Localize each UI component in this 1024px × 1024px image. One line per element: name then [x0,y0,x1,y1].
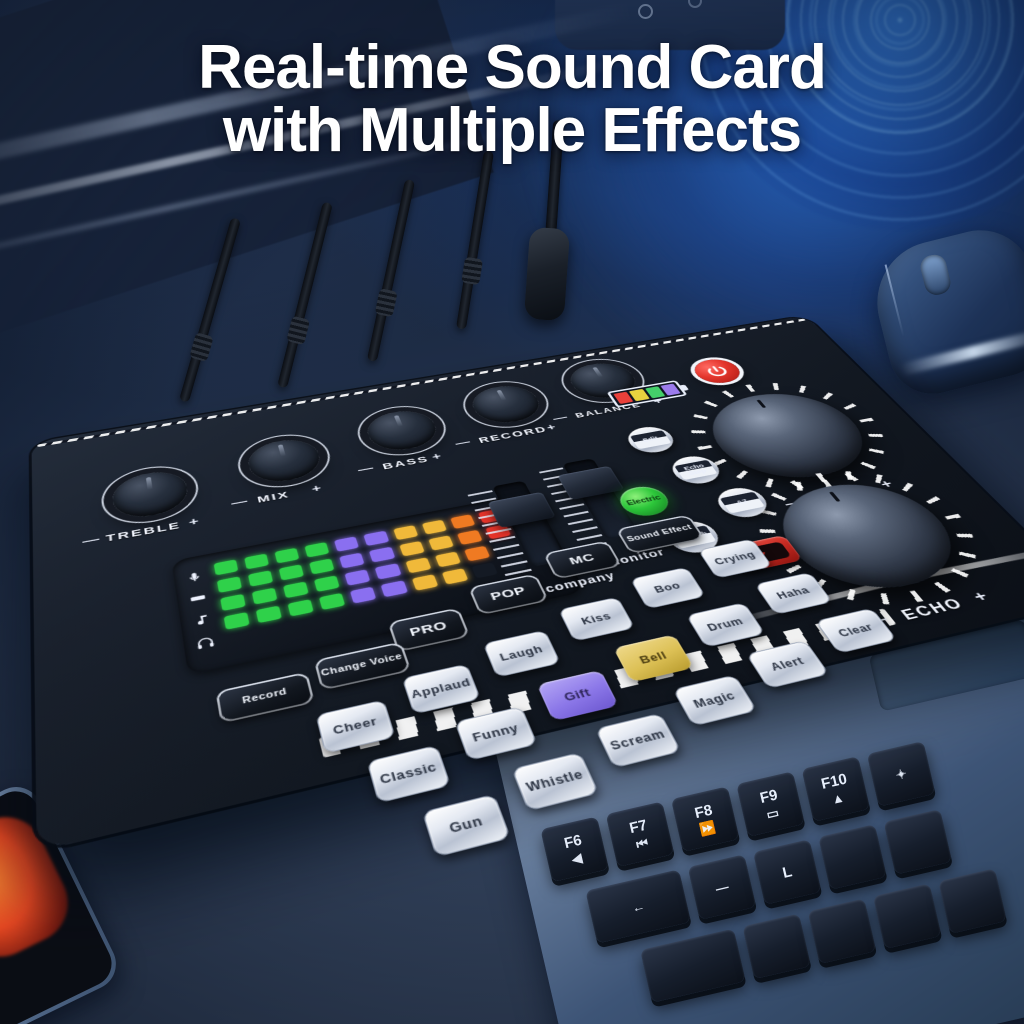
led-cell [421,520,446,535]
led-cell [340,553,366,569]
knob-echo-plus: + [969,588,993,606]
button-label: Kiss [580,611,613,626]
knob-treble[interactable] [111,467,191,522]
button-label: Drum [705,616,745,633]
knob-bass-label: BASS [381,454,431,471]
knob-bass-plus: + [430,452,443,463]
led-cell [214,559,239,575]
led-cell [405,557,431,573]
button-label: Edit [630,430,672,449]
led-cell [244,553,269,569]
led-cell [441,568,468,584]
led-cell [314,575,340,592]
key-glyph: — [714,879,730,895]
knob-mix-label: MIX [256,490,291,505]
knob-record[interactable] [465,382,547,427]
button-label: Funny [471,722,521,744]
knob-mix-minus: — [230,497,248,510]
cable-connector [524,227,570,322]
pad-button-kiss[interactable]: Kiss [558,597,635,642]
led-cell [471,562,498,578]
knob-mix[interactable] [244,435,325,486]
led-cell [256,606,282,624]
led-cell [457,530,483,545]
led-cell [220,594,246,611]
led-cell [319,593,345,610]
led-cell [288,599,314,616]
button-label: POP [489,585,528,603]
button-label: Bell [638,650,669,666]
headline-line-1: Real-time Sound Card [0,36,1024,99]
microphone-icon [184,570,204,585]
key-label: F6 [563,832,583,851]
led-cell [428,535,454,550]
button-label: Cheer [332,716,379,737]
knob-treble-label: TREBLE [105,520,181,544]
pad-button-magic[interactable]: Magic [672,675,757,727]
led-cell [411,574,438,591]
button-label: Laugh [498,644,544,663]
power-icon [701,363,733,379]
pad-button-boo[interactable]: Boo [630,567,706,609]
button-label: Whistle [524,768,585,794]
led-row-icons [184,570,216,652]
led-cell [450,514,475,529]
page-title: Real-time Sound Card with Multiple Effec… [0,36,1024,162]
led-cell [381,580,408,597]
led-cell [345,569,371,585]
knob-treble-plus: + [188,516,199,528]
knob-treble-minus: — [82,534,100,548]
monitor-button-icon [638,4,653,19]
led-cell [305,542,330,558]
pad-button-gun[interactable]: Gun [422,794,511,857]
knob-record-minus: — [454,438,473,450]
pad-button-classic[interactable]: Classic [367,745,452,804]
knob-bass[interactable] [362,407,443,455]
led-cell [309,558,334,574]
key-glyph: ⏩ [698,820,717,836]
pad-button-scream[interactable]: Scream [595,713,682,768]
button-label: Classic [378,761,438,786]
headphones-icon [195,635,217,652]
key-glyph: ← [630,899,646,915]
button-record[interactable]: Record [218,674,312,721]
led-cell [279,564,304,580]
button-label: Haha [775,585,812,600]
pad-button-cheer[interactable]: Cheer [315,700,395,754]
key-label: L [781,864,793,881]
headline-line-2: with Multiple Effects [0,99,1024,162]
button-edit[interactable]: Edit [622,424,680,456]
button-label: Change Voice [320,653,404,679]
led-cell [283,581,309,598]
pad-button-whistle[interactable]: Whistle [511,752,599,811]
button-label: Sound Effect [626,524,694,543]
knob-balance-minus: — [551,413,570,424]
led-cell [375,563,401,579]
product-banner: Real-time Sound Card with Multiple Effec… [0,0,1024,1024]
led-cell [224,612,250,630]
key-label: F7 [628,817,648,836]
button-label: Magic [691,690,737,710]
led-cell [435,552,461,568]
key-glyph: ◀ [570,851,583,866]
button-label: Applaud [410,677,473,700]
monitor-button-icon [688,0,702,8]
led-cell [217,576,242,593]
knob-record-label: RECORD [477,425,549,445]
pad-button-laugh[interactable]: Laugh [483,630,561,678]
led-cell [399,541,425,556]
sound-card-device: TREBLE — + MIX — + BASS — + RECORD — + B… [55,235,985,815]
button-label: A7 [719,491,765,513]
led-cell [393,525,418,540]
button-label: Alert [768,655,806,672]
button-label: Echo Step [674,459,718,480]
music-note-icon [191,612,212,628]
power-button[interactable] [688,357,747,386]
button-label: Electric [626,495,663,507]
led-cell [350,587,376,604]
knob-mix-plus: + [311,483,323,495]
button-label: MC [568,552,598,567]
led-cell [334,536,359,551]
button-label: Crying [712,550,757,566]
button-label: Record [242,688,288,706]
button-change-voice[interactable]: Change Voice [316,644,408,689]
led-cell [369,547,395,563]
button-label: Clear [836,622,875,639]
button-label: Scream [608,728,667,752]
knob-bass-minus: — [357,464,376,476]
led-cell [275,548,300,564]
led-cell [464,546,490,562]
button-label: Gift [562,687,592,703]
led-cell [364,531,389,546]
button-label: Boo [653,581,683,595]
led-cell [252,588,278,605]
speaker-icon [188,591,209,606]
led-cell [248,570,273,586]
button-label: Gun [448,814,485,835]
key-glyph: ⏮ [635,835,649,850]
button-label: PRO [408,620,449,639]
